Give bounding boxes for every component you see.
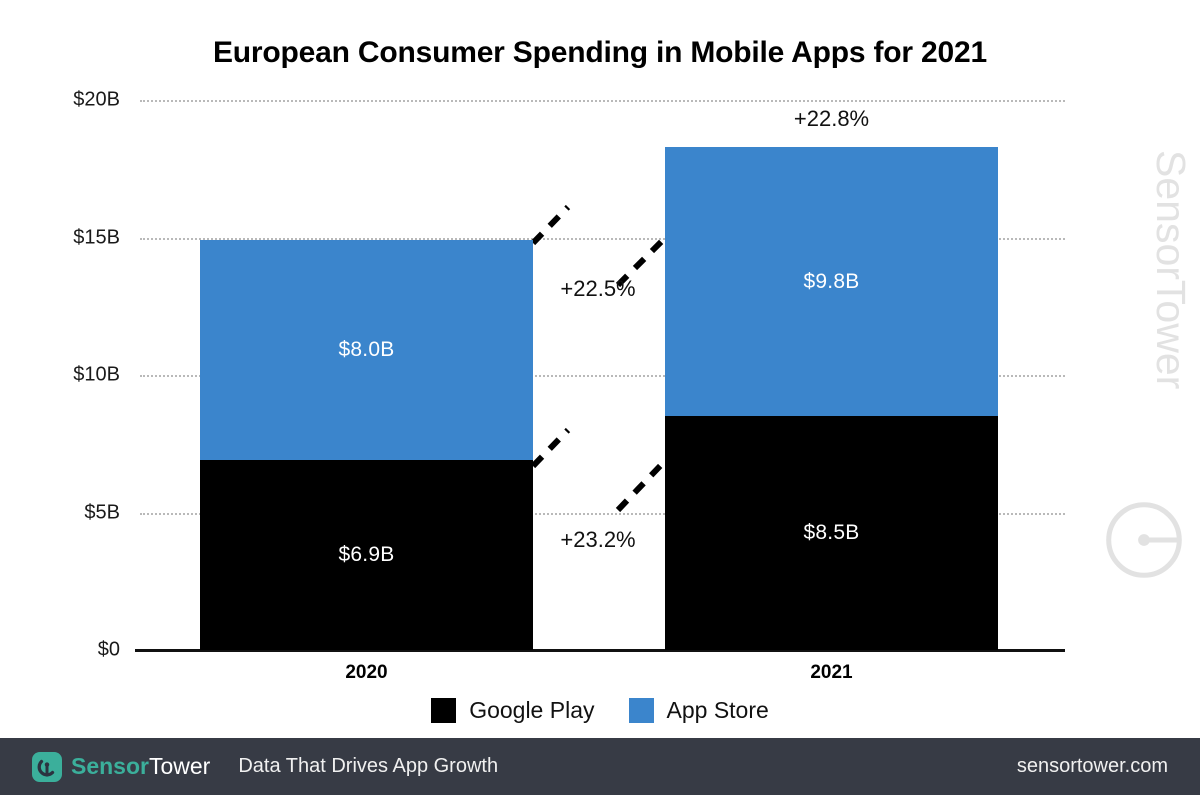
bar-segment-value-label: $8.0B [339,338,395,362]
watermark-brand: SensorTower [1147,150,1194,389]
bar-segment[interactable]: $8.0B [200,240,533,460]
legend-label-google-play: Google Play [469,697,594,724]
bar-segment[interactable]: $6.9B [200,460,533,650]
y-tick-label: $0 [28,639,120,662]
y-tick-label: $15B [28,226,120,249]
legend-swatch-app-store [629,698,654,723]
total-growth-label: +22.8% [794,106,869,132]
y-tick-label: $20B [28,89,120,112]
footer-brand: SensorTower [71,753,210,780]
chart-legend: Google Play App Store [0,697,1200,724]
sensortower-logo-icon [32,752,62,782]
bar-segment[interactable]: $8.5B [665,416,998,650]
legend-swatch-google-play [431,698,456,723]
watermark-brand-tower: Tower [1148,280,1194,389]
gridline [140,100,1065,102]
x-tick-label: 2020 [345,662,387,684]
bar-segment-value-label: $6.9B [339,543,395,567]
bar-segment-value-label: $9.8B [804,270,860,294]
y-tick-label: $10B [28,364,120,387]
footer-brand-tower: Tower [149,753,210,779]
footer-url[interactable]: sensortower.com [1017,755,1168,778]
growth-label-app-store: +22.5% [560,276,635,302]
growth-label-google-play: +23.2% [560,527,635,553]
sensortower-signal-icon [1102,498,1186,582]
watermark-brand-sensor: Sensor [1148,150,1194,280]
footer-brand-sensor: Sensor [71,753,149,779]
legend-item-app-store[interactable]: App Store [629,697,769,724]
footer-tagline: Data That Drives App Growth [238,755,498,778]
chart-title: European Consumer Spending in Mobile App… [0,36,1200,70]
legend-item-google-play[interactable]: Google Play [431,697,594,724]
bar-segment[interactable]: $9.8B [665,147,998,417]
y-tick-label: $5B [28,501,120,524]
x-tick-label: 2021 [810,662,852,684]
y-axis: $0$5B$10B$15B$20B [0,100,120,650]
footer-bar: SensorTower Data That Drives App Growth … [0,738,1200,795]
bar-segment-value-label: $8.5B [804,521,860,545]
legend-label-app-store: App Store [667,697,769,724]
